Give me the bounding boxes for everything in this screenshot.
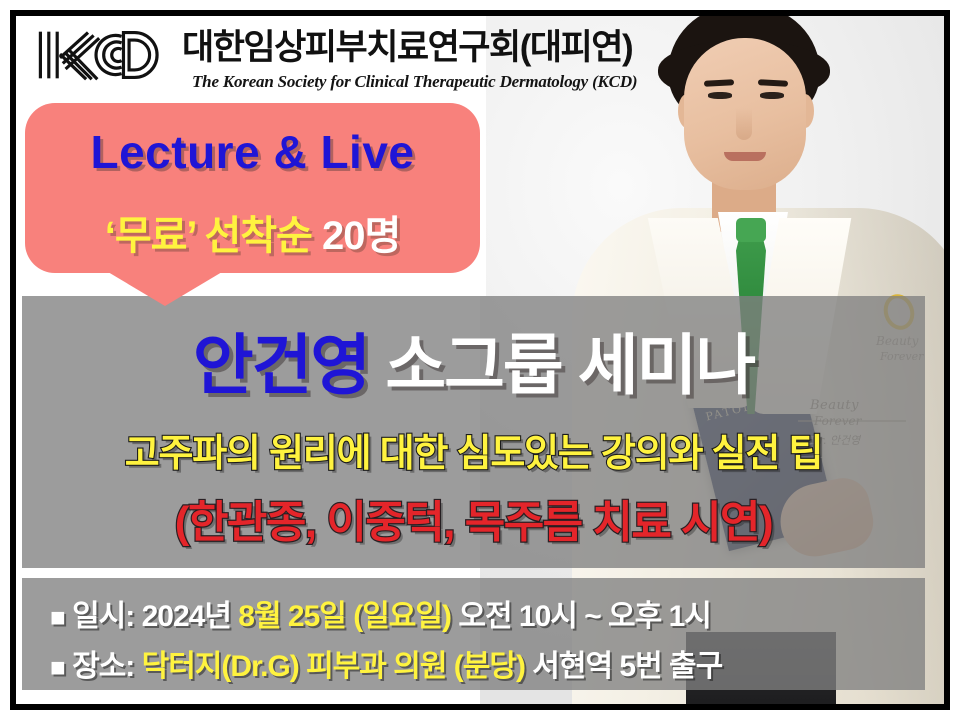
seminar-demo-list: (한관종, 이중턱, 목주름 치료 시연): [22, 486, 925, 550]
seminar-subtitle: 고주파의 원리에 대한 심도있는 강의와 실전 팁: [22, 422, 925, 477]
announcement-bubble: Lecture & Live ‘무료’ 선착순 20명: [25, 103, 480, 273]
place-directions: 서현역 5번 출구: [532, 650, 722, 683]
bullet-icon-place: ■: [50, 652, 65, 682]
date-year: 2024년: [142, 600, 231, 633]
date-value: 8월 25일 (일요일): [238, 600, 451, 633]
main-title-panel: 안건영 소그룹 세미나 고주파의 원리에 대한 심도있는 강의와 실전 팁 (한…: [22, 296, 925, 568]
place-label: 장소:: [72, 650, 134, 683]
bubble-seat-count: 20명: [322, 214, 400, 258]
nose: [736, 108, 752, 140]
seminar-title: 안건영 소그룹 세미나: [22, 332, 925, 398]
date-time-range: 오전 10시 ~ 오후 1시: [458, 600, 711, 633]
organization-title-en: The Korean Society for Clinical Therapeu…: [192, 72, 637, 92]
seminar-type: 소그룹 세미나: [385, 328, 754, 402]
poster-root: PATOLOGY Beauty Forever Dr. 안건영 Beauty F…: [0, 0, 960, 720]
event-date-line: ■ 일시: 2024년 8월 25일 (일요일) 오전 10시 ~ 오후 1시: [50, 591, 711, 635]
necktie-knot: [736, 218, 766, 242]
place-venue: 닥터지(Dr.G) 피부과 의원 (분당): [142, 650, 525, 683]
bullet-icon-date: ■: [50, 602, 65, 632]
speaker-name: 안건영: [193, 328, 369, 402]
bubble-heading: Lecture & Live: [25, 125, 480, 179]
kcd-logo-icon: [32, 26, 172, 84]
poster-header: 대한임상피부치료연구회(대피연) The Korean Society for …: [16, 16, 806, 94]
mouth: [724, 152, 766, 161]
bubble-subheading: ‘무료’ 선착순 20명: [25, 203, 480, 261]
bubble-tail: [108, 272, 222, 306]
organization-title-ko: 대한임상피부치료연구회(대피연): [182, 30, 632, 65]
event-info-panel: ■ 일시: 2024년 8월 25일 (일요일) 오전 10시 ~ 오후 1시 …: [22, 578, 925, 690]
bubble-free-text: ‘무료’ 선착순: [105, 214, 312, 258]
event-place-line: ■ 장소: 닥터지(Dr.G) 피부과 의원 (분당) 서현역 5번 출구: [50, 641, 722, 685]
date-label: 일시:: [72, 600, 134, 633]
